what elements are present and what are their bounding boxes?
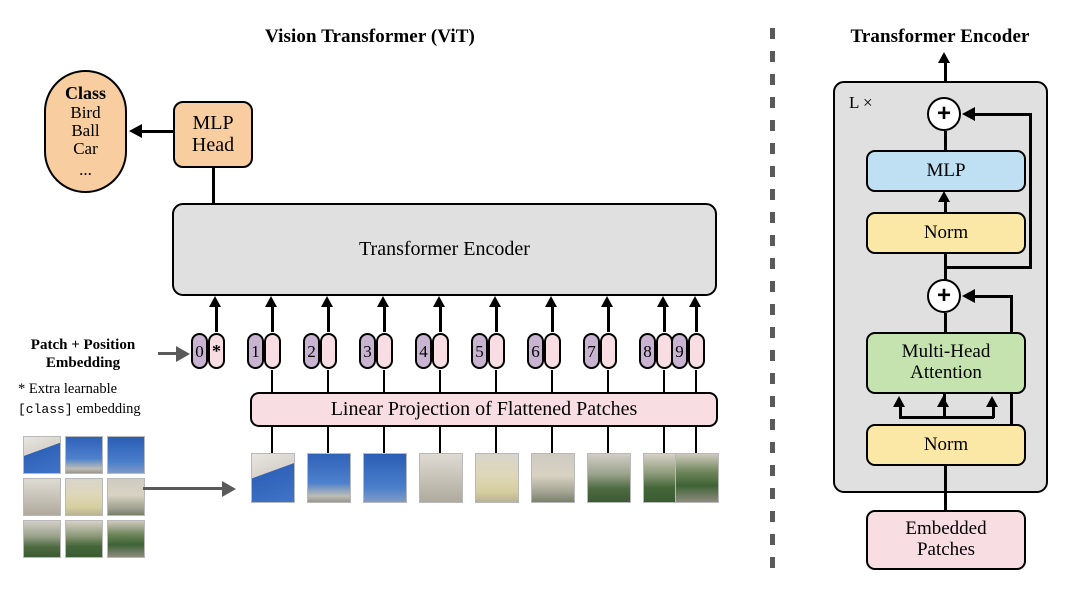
- norm-lower-label: Norm: [924, 435, 968, 456]
- embedded-patches-line1: Embedded: [905, 519, 986, 540]
- position-embedding-0: 0: [191, 333, 208, 369]
- class-item-bird: Bird: [70, 104, 100, 122]
- norm-block-lower: Norm: [866, 424, 1026, 466]
- encoder-output-arrowhead: [938, 52, 950, 63]
- class-token-pill: *: [208, 333, 225, 369]
- source-patch-1-0: [23, 478, 61, 516]
- patch-embedding-6: [544, 333, 561, 369]
- residual-add-junction-1: +: [927, 97, 961, 131]
- transformer-encoder-label: Transformer Encoder: [359, 239, 530, 261]
- patch-embedding-3: [376, 333, 393, 369]
- mlp-head-line2: Head: [192, 135, 234, 157]
- token-embedding-row: 0 * 1 2 3 4 5 6 7: [191, 333, 721, 373]
- patch-embedding-2: [320, 333, 337, 369]
- token-pair-5[interactable]: 5: [471, 333, 505, 369]
- token-pair-8[interactable]: 8: [639, 333, 673, 369]
- token-pair-7[interactable]: 7: [583, 333, 617, 369]
- flattened-patch-strip: [251, 453, 721, 509]
- linproj-to-tokens-lines: [191, 370, 721, 394]
- patch-embedding-9: [688, 333, 705, 369]
- class-output-box: Class Bird Ball Car ...: [44, 70, 127, 193]
- encoder-to-mlphead-line: [212, 168, 215, 204]
- repeat-count-label: L ×: [849, 93, 873, 113]
- right-panel-title: Transformer Encoder: [800, 26, 1080, 48]
- position-embedding-9: 9: [671, 333, 688, 369]
- position-embedding-8: 8: [639, 333, 656, 369]
- flat-patch-6: [531, 453, 575, 503]
- class-item-car: Car: [73, 140, 98, 158]
- qkv-arrowhead-v: [986, 396, 998, 407]
- panel-divider: [770, 28, 775, 571]
- class-heading: Class: [65, 84, 106, 103]
- patch-position-line1: Patch + Position: [8, 337, 158, 355]
- footnote-line2: [class] embedding: [18, 400, 188, 420]
- residual-1-arrowhead: [962, 107, 975, 121]
- patch-position-line2: Embedding: [8, 355, 158, 373]
- position-embedding-3: 3: [359, 333, 376, 369]
- class-ellipsis: ...: [79, 161, 92, 179]
- label-to-tokens-arrowhead: [176, 346, 190, 362]
- label-to-tokens-line: [158, 352, 176, 355]
- flat-patch-1: [251, 453, 295, 503]
- flat-patch-3: [363, 453, 407, 503]
- token-pair-0[interactable]: 0 *: [191, 333, 225, 369]
- plus-symbol-1: +: [937, 102, 951, 126]
- embedded-patches-block: Embedded Patches: [866, 510, 1026, 570]
- source-patch-0-2: [107, 436, 145, 474]
- extra-learnable-footnote: * Extra learnable [class] embedding: [18, 380, 188, 419]
- vit-architecture-diagram: Vision Transformer (ViT) Class Bird Ball…: [0, 0, 1080, 593]
- patch-embedding-4: [432, 333, 449, 369]
- residual-add-junction-2: +: [927, 279, 961, 313]
- token-pair-9[interactable]: 9: [671, 333, 705, 369]
- mlp-block: MLP: [866, 150, 1026, 192]
- flat-patch-2: [307, 453, 351, 503]
- mlphead-to-class-line: [142, 130, 173, 133]
- left-panel-title: Vision Transformer (ViT): [0, 26, 740, 48]
- flat-patch-9: [675, 453, 719, 503]
- qkv-arrowhead-q: [893, 396, 905, 407]
- class-item-ball: Ball: [71, 122, 99, 140]
- flat-patch-7: [587, 453, 631, 503]
- patch-embedding-7: [600, 333, 617, 369]
- position-embedding-7: 7: [583, 333, 600, 369]
- grid-to-strip-arrowhead: [222, 481, 236, 497]
- qkv-arrowhead-k: [937, 396, 949, 407]
- flat-patch-4: [419, 453, 463, 503]
- source-image-patch-grid: [23, 436, 145, 558]
- embedded-patches-line2: Patches: [917, 540, 975, 561]
- source-patch-1-1: [65, 478, 103, 516]
- patch-embedding-5: [488, 333, 505, 369]
- residual-2-arrowhead: [962, 289, 975, 303]
- embedded-to-norm2-line: [944, 466, 947, 511]
- mlp-head-box: MLP Head: [173, 101, 253, 168]
- token-pair-2[interactable]: 2: [303, 333, 337, 369]
- multi-head-attention-block: Multi-Head Attention: [866, 332, 1026, 394]
- norm1-to-mlp-arrowhead: [938, 191, 950, 202]
- norm-block-upper: Norm: [866, 212, 1026, 254]
- token-pair-3[interactable]: 3: [359, 333, 393, 369]
- footnote-line2-suffix: embedding: [73, 401, 141, 417]
- token-pair-4[interactable]: 4: [415, 333, 449, 369]
- norm-upper-label: Norm: [924, 223, 968, 244]
- residual-line-1-horizontal-bottom: [944, 266, 1032, 269]
- plus-symbol-2: +: [937, 284, 951, 308]
- mlphead-to-class-arrowhead: [129, 124, 142, 138]
- transformer-encoder-box: Transformer Encoder: [172, 203, 717, 296]
- qkv-bus: [899, 416, 994, 419]
- grid-to-strip-line: [143, 487, 222, 490]
- position-embedding-6: 6: [527, 333, 544, 369]
- patch-embedding-1: [264, 333, 281, 369]
- token-to-encoder-arrows: [191, 296, 711, 332]
- source-patch-0-0: [23, 436, 61, 474]
- patch-position-embedding-label: Patch + Position Embedding: [8, 337, 158, 372]
- residual-line-1-horizontal-top: [975, 113, 1032, 116]
- mha-label-line2: Attention: [910, 363, 982, 384]
- mha-label-line1: Multi-Head: [902, 342, 991, 363]
- position-embedding-1: 1: [247, 333, 264, 369]
- flat-patch-5: [475, 453, 519, 503]
- mlp-block-label: MLP: [926, 161, 965, 182]
- residual-line-2-horizontal-top: [975, 295, 1013, 298]
- token-pair-1[interactable]: 1: [247, 333, 281, 369]
- patches-to-linproj-lines: [191, 427, 721, 453]
- linear-projection-box: Linear Projection of Flattened Patches: [250, 392, 718, 427]
- linear-projection-label: Linear Projection of Flattened Patches: [331, 399, 638, 421]
- source-patch-0-1: [65, 436, 103, 474]
- class-token-mono: [class]: [18, 402, 73, 417]
- qkv-arrows: [866, 394, 1026, 426]
- source-patch-2-1: [65, 520, 103, 558]
- position-embedding-2: 2: [303, 333, 320, 369]
- position-embedding-5: 5: [471, 333, 488, 369]
- footnote-line1: * Extra learnable: [18, 380, 188, 400]
- mlp-head-line1: MLP: [192, 113, 233, 135]
- token-pair-6[interactable]: 6: [527, 333, 561, 369]
- position-embedding-4: 4: [415, 333, 432, 369]
- source-patch-2-2: [107, 520, 145, 558]
- source-patch-2-0: [23, 520, 61, 558]
- residual-line-1-vertical: [1029, 113, 1032, 268]
- source-patch-1-2: [107, 478, 145, 516]
